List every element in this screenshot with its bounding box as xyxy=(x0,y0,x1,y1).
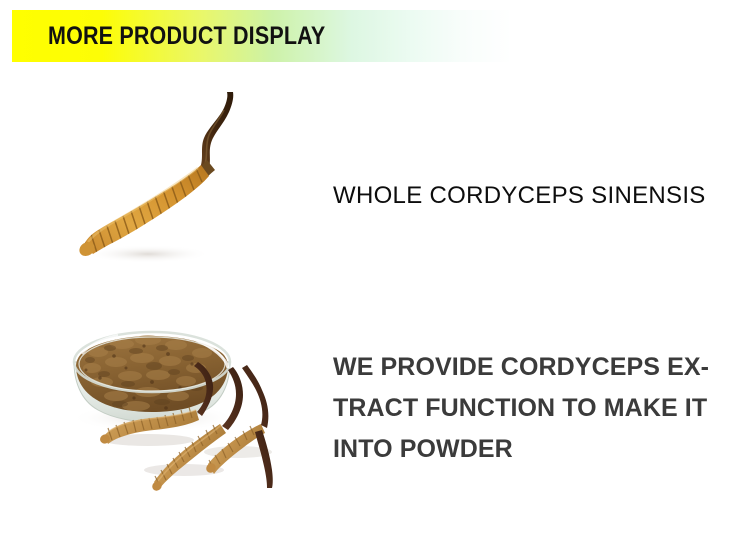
headline-line-1: WE PROVIDE CORDYCEPS EX- xyxy=(333,347,711,388)
banner-title: MORE PRODUCT DISPLAY xyxy=(48,10,325,62)
headline-line-2: TRACT FUNCTION TO MAKE IT xyxy=(333,388,711,429)
cordyceps-powder-photo xyxy=(56,318,326,508)
headline-whole-cordyceps: WHOLE CORDYCEPS SINENSIS xyxy=(333,182,723,210)
product-display-page: MORE PRODUCT DISPLAY xyxy=(0,0,750,553)
specimen-3-stroma-up xyxy=(242,365,268,428)
specimen-3-stroma-down xyxy=(255,430,273,488)
cordyceps-stroma xyxy=(200,92,233,172)
headline-cordyceps-powder: WE PROVIDE CORDYCEPS EX- TRACT FUNCTION … xyxy=(333,347,711,470)
section-banner: MORE PRODUCT DISPLAY xyxy=(12,10,512,62)
headline-line-3: INTO POWDER xyxy=(333,429,711,470)
whole-cordyceps-photo xyxy=(58,88,288,278)
photo-shadow xyxy=(86,245,210,263)
